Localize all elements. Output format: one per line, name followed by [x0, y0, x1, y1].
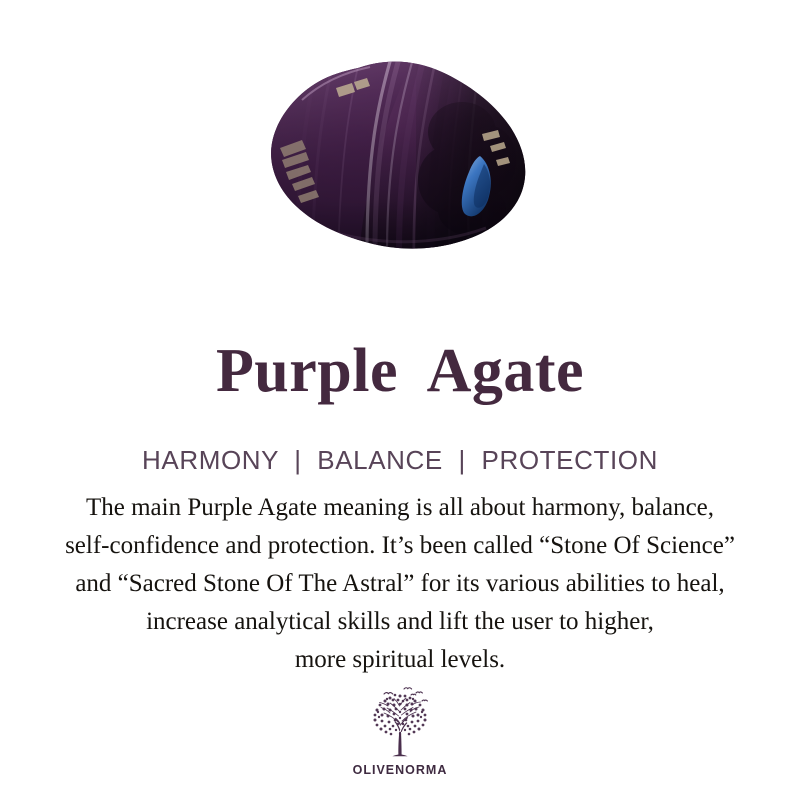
purple-agate-info-card: Purple Agate HARMONY | BALANCE | PROTECT…: [0, 0, 800, 800]
tree-trunk: [392, 717, 408, 756]
stone-body: [266, 60, 534, 260]
description-paragraph: The main Purple Agate meaning is all abo…: [30, 489, 770, 679]
brand-wordmark: OLIVENORMA: [353, 763, 448, 777]
page-title: Purple Agate: [0, 336, 800, 406]
description-line: increase analytical skills and lift the …: [30, 603, 770, 641]
description-line: The main Purple Agate meaning is all abo…: [30, 489, 770, 527]
brand-logo: OLIVENORMA: [0, 682, 800, 777]
product-image-container: [0, 52, 800, 267]
description-line: and “Sacred Stone Of The Astral” for its…: [30, 565, 770, 603]
description-line: more spiritual levels.: [30, 641, 770, 679]
description-line: self-confidence and protection. It’s bee…: [30, 527, 770, 565]
olive-tree-with-birds-icon: [360, 682, 440, 762]
keyword-subtitle: HARMONY | BALANCE | PROTECTION: [0, 444, 800, 476]
purple-agate-stone-icon: [266, 60, 534, 260]
